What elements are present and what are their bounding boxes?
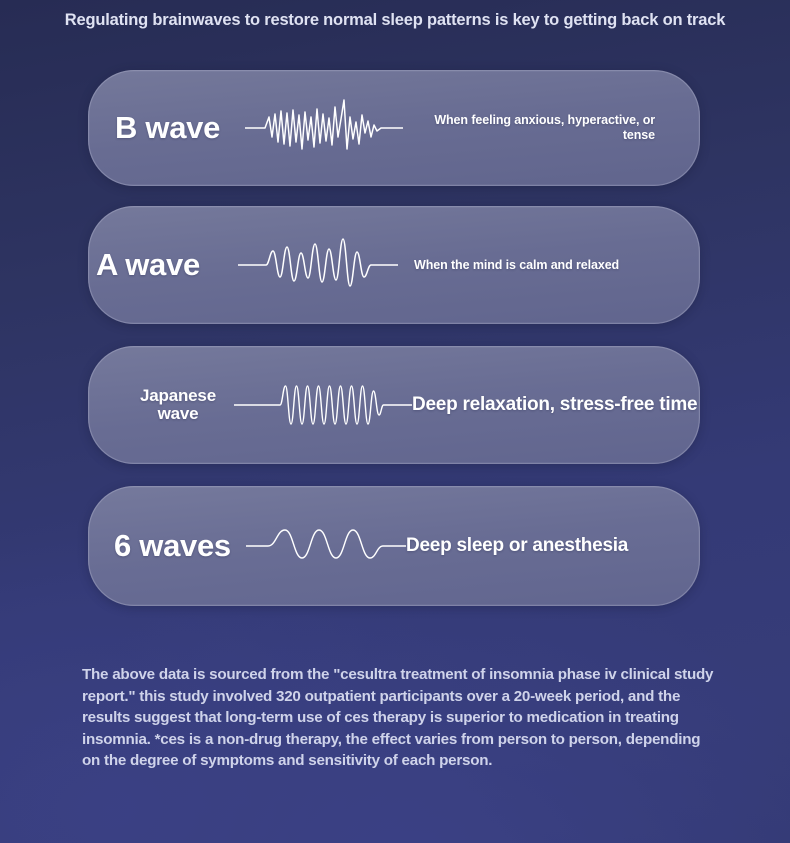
wave-card-label-line-2: wave bbox=[158, 404, 199, 423]
wave-card-theta[interactable]: Japanese wave Deep relaxation, stress-fr… bbox=[88, 346, 700, 464]
wave-card-description: When feeling anxious, hyperactive, or te… bbox=[425, 113, 655, 143]
theta-waveform-icon bbox=[234, 377, 412, 433]
wave-card-label: A wave bbox=[96, 249, 238, 282]
page-title: Regulating brainwaves to restore normal … bbox=[0, 11, 790, 30]
alpha-waveform-icon bbox=[238, 233, 398, 297]
wave-card-alpha[interactable]: A wave When the mind is calm and relaxed bbox=[88, 206, 700, 324]
source-note: The above data is sourced from the "cesu… bbox=[82, 664, 722, 772]
infographic-page: Regulating brainwaves to restore normal … bbox=[0, 0, 790, 843]
delta-waveform-icon bbox=[246, 518, 406, 574]
beta-waveform-icon bbox=[245, 97, 403, 159]
wave-card-label: Japanese wave bbox=[122, 387, 234, 423]
wave-card-description: Deep sleep or anesthesia bbox=[406, 535, 666, 557]
wave-card-description: Deep relaxation, stress-free time bbox=[412, 394, 702, 416]
wave-card-delta[interactable]: 6 waves Deep sleep or anesthesia bbox=[88, 486, 700, 606]
wave-card-label-line-1: Japanese bbox=[140, 386, 216, 405]
wave-card-beta[interactable]: B wave When feeling anxious, hyperactive… bbox=[88, 70, 700, 186]
wave-card-label: 6 waves bbox=[114, 530, 246, 563]
wave-card-label: B wave bbox=[115, 112, 241, 145]
wave-card-description: When the mind is calm and relaxed bbox=[414, 258, 644, 273]
